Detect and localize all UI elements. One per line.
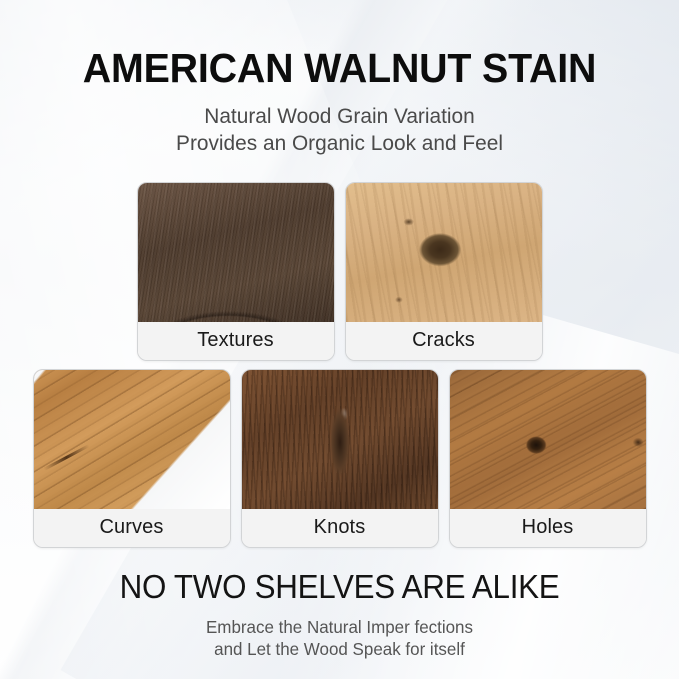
header-subtitle-line-1: Natural Wood Grain Variation [10,103,669,130]
feature-card-knots[interactable]: Knots [241,369,439,548]
feature-card-label-knots: Knots [242,509,438,547]
footer-title: NO TWO SHELVES ARE ALIKE [17,570,662,603]
feature-card-label-textures: Textures [138,322,334,360]
footer-subtitle-line-1: Embrace the Natural Imper fections [10,616,669,639]
footer-block: NO TWO SHELVES ARE ALIKE Embrace the Nat… [0,570,679,662]
footer-subtitle-line-2: and Let the Wood Speak for itself [10,638,669,661]
wood-photo-curves [34,370,230,509]
header-subtitle-line-2: Provides an Organic Look and Feel [10,130,669,157]
feature-card-row-bottom: Curves Knots Holes [0,369,679,548]
wood-photo-holes [450,370,646,509]
wood-photo-knots [242,370,438,509]
feature-card-textures[interactable]: Textures [137,182,335,361]
footer-subtitle: Embrace the Natural Imper fections and L… [10,616,669,662]
feature-card-holes[interactable]: Holes [449,369,647,548]
feature-card-label-cracks: Cracks [346,322,542,360]
wood-photo-cracks [346,183,542,322]
content-wrapper: AMERICAN WALNUT STAIN Natural Wood Grain… [0,0,679,661]
page-title: AMERICAN WALNUT STAIN [14,0,666,89]
feature-card-cracks[interactable]: Cracks [345,182,543,361]
feature-card-label-holes: Holes [450,509,646,547]
header-subtitle: Natural Wood Grain Variation Provides an… [10,103,669,158]
feature-card-label-curves: Curves [34,509,230,547]
feature-card-curves[interactable]: Curves [33,369,231,548]
wood-photo-textures [138,183,334,322]
feature-card-row-top: Textures Cracks [0,182,679,361]
product-infographic: AMERICAN WALNUT STAIN Natural Wood Grain… [0,0,679,679]
